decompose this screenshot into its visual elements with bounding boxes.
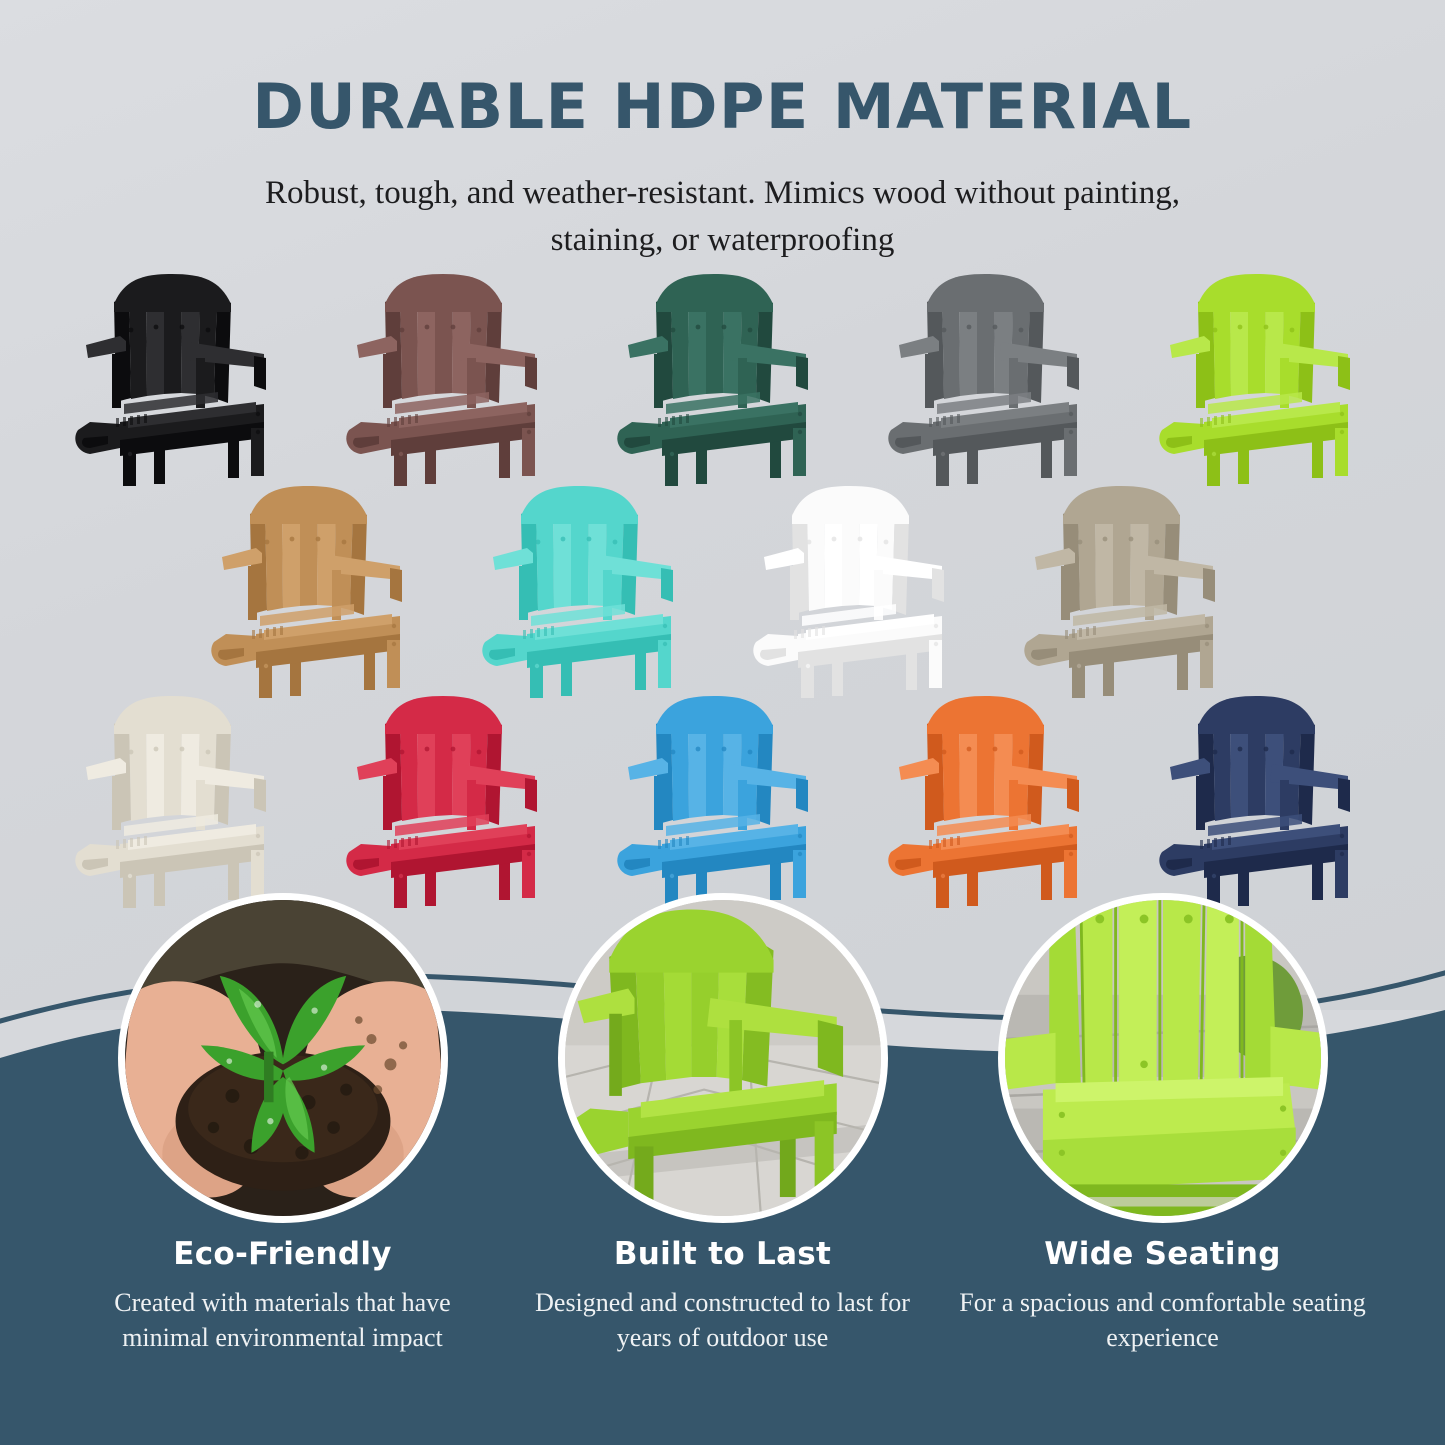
- chair-cell-navy[interactable]: [1152, 694, 1377, 909]
- feature-text-row: Eco-Friendly Created with materials that…: [0, 1236, 1445, 1356]
- feature-photo-1[interactable]: [118, 893, 448, 1223]
- feature-description: Created with materials that have minimal…: [73, 1286, 493, 1356]
- header: DURABLE HDPE MATERIAL Robust, tough, and…: [0, 0, 1445, 264]
- feature-title: Wide Seating: [998, 1236, 1328, 1272]
- chair-black: [68, 272, 293, 487]
- chair-cell-lime[interactable]: [1152, 272, 1377, 487]
- chair-gray: [881, 272, 1106, 487]
- chair-cell-orange[interactable]: [881, 694, 1106, 909]
- chair-lime: [1152, 272, 1377, 487]
- feature-description: For a spacious and comfortable seating e…: [953, 1286, 1373, 1356]
- hands-holding-seedling-in-soil-image: [118, 893, 448, 1223]
- chair-ivory: [68, 694, 293, 909]
- chair-row-3: [0, 694, 1445, 909]
- chair-weathered-gray: [1017, 484, 1242, 699]
- lime-green-adirondack-chair-on-patio-image: [558, 893, 888, 1223]
- close-up-of-lime-chair-wide-seat-image: [998, 893, 1328, 1223]
- chair-cell-teak[interactable]: [204, 484, 429, 699]
- feature-description: Designed and constructed to last for yea…: [513, 1286, 933, 1356]
- chair-light-blue: [610, 694, 835, 909]
- chair-navy: [1152, 694, 1377, 909]
- feature-photo-2[interactable]: [558, 893, 888, 1223]
- chair-cell-brown[interactable]: [339, 272, 564, 487]
- chair-row-1: [0, 272, 1445, 487]
- chair-cell-white[interactable]: [746, 484, 971, 699]
- chair-teak: [204, 484, 429, 699]
- chair-row-2: [0, 484, 1445, 699]
- chair-cell-weathered-gray[interactable]: [1017, 484, 1242, 699]
- chair-cell-green[interactable]: [610, 272, 835, 487]
- feature-photo-3[interactable]: [998, 893, 1328, 1223]
- page-title: DURABLE HDPE MATERIAL: [0, 76, 1445, 138]
- chair-red: [339, 694, 564, 909]
- infographic-canvas: DURABLE HDPE MATERIAL Robust, tough, and…: [0, 0, 1445, 1445]
- chair-cell-gray[interactable]: [881, 272, 1106, 487]
- chair-cell-light-blue[interactable]: [610, 694, 835, 909]
- chair-cell-red[interactable]: [339, 694, 564, 909]
- chair-cell-black[interactable]: [68, 272, 293, 487]
- feature-text-2: Built to Last Designed and constructed t…: [558, 1236, 888, 1356]
- feature-text-1: Eco-Friendly Created with materials that…: [118, 1236, 448, 1356]
- chair-orange: [881, 694, 1106, 909]
- feature-text-3: Wide Seating For a spacious and comforta…: [998, 1236, 1328, 1356]
- chair-cell-ivory[interactable]: [68, 694, 293, 909]
- page-subtitle: Robust, tough, and weather-resistant. Mi…: [223, 170, 1223, 264]
- feature-title: Built to Last: [558, 1236, 888, 1272]
- chair-green: [610, 272, 835, 487]
- chair-brown: [339, 272, 564, 487]
- feature-photo-row: [0, 893, 1445, 1223]
- chair-cell-turquoise[interactable]: [475, 484, 700, 699]
- chair-white: [746, 484, 971, 699]
- chair-turquoise: [475, 484, 700, 699]
- feature-title: Eco-Friendly: [118, 1236, 448, 1272]
